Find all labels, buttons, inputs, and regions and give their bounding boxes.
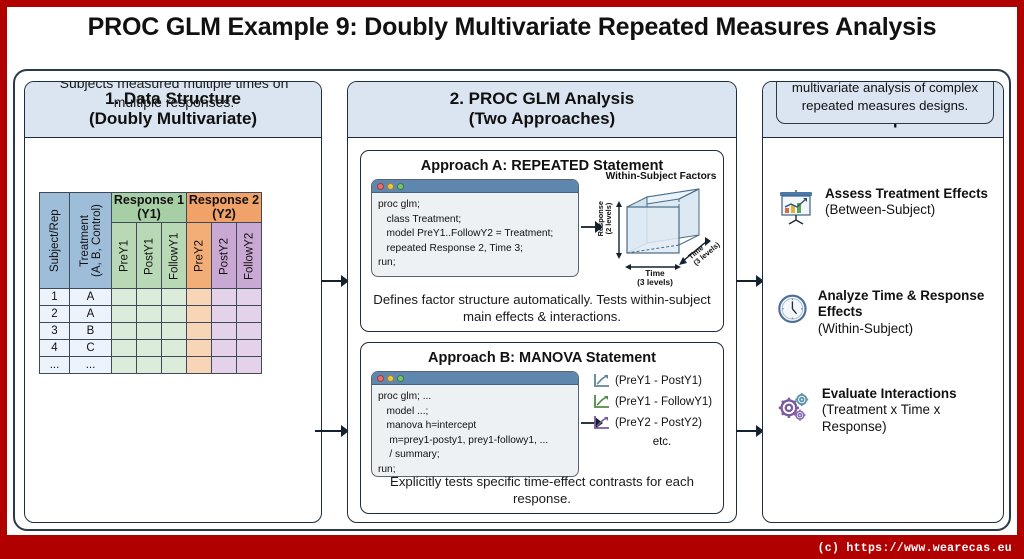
col-header-followy2: FollowY2	[237, 223, 262, 289]
col-header-prey2: PreY2	[187, 223, 212, 289]
approach-b-box: Approach B: MANOVA Statement proc glm; .…	[360, 342, 724, 514]
group-header-response1: Response 1(Y1)	[112, 193, 187, 223]
cell-posty2	[212, 323, 237, 340]
cell-followy1	[162, 323, 187, 340]
contrast-label: (PreY2 - PostY2)	[615, 417, 702, 429]
arrow-data-to-manova	[315, 423, 349, 439]
col-header-treatment: Treatment(A, B, Control)	[70, 193, 112, 289]
cell-treatment: A	[70, 306, 112, 323]
cell-prey2	[187, 323, 212, 340]
clock-icon	[776, 288, 809, 328]
table-row: ... ...	[40, 357, 262, 374]
col-header-followy1: FollowY1	[162, 223, 187, 289]
panel2-header: 2. PROC GLM Analysis (Two Approaches)	[348, 82, 736, 138]
cube-caption: Within-Subject Factors	[599, 171, 723, 182]
cell-subject: 1	[40, 289, 70, 306]
cell-posty1	[137, 340, 162, 357]
cell-followy2	[237, 289, 262, 306]
goal-subtitle: (Treatment x Time x Response)	[822, 402, 941, 433]
code-window-approach-b[interactable]: proc glm; ... model ...; manova h=interc…	[371, 371, 579, 477]
col-header-posty2: PostY2	[212, 223, 237, 289]
gears-icon	[776, 386, 813, 426]
diagram-canvas: PROC GLM Example 9: Doubly Multivariate …	[7, 7, 1017, 535]
goal-text: Assess Treatment Effects (Between-Subjec…	[825, 186, 988, 219]
cell-treatment: ...	[70, 357, 112, 374]
approach-b-note: Explicitly tests specific time-effect co…	[367, 473, 717, 507]
panel1-note: Subjects measured multiple times on mult…	[35, 81, 313, 112]
watermark: (c) https://www.wearecas.eu	[818, 542, 1012, 555]
col-header-prey1: PreY1	[112, 223, 137, 289]
contrast-list: (PreY1 - PostY1) (PreY1 - FollowY1)	[593, 373, 723, 448]
cell-subject: 2	[40, 306, 70, 323]
approach-a-box: Approach A: REPEATED Statement proc glm;…	[360, 150, 724, 332]
data-structure-table: Subject/Rep Treatment(A, B, Control) Res…	[39, 192, 262, 374]
minimize-icon[interactable]	[387, 183, 394, 190]
goal-title: Analyze Time & Response Effects	[818, 288, 994, 321]
cell-followy1	[162, 306, 187, 323]
goal-text: Evaluate Interactions (Treatment x Time …	[822, 386, 994, 435]
page-title: PROC GLM Example 9: Doubly Multivariate …	[7, 13, 1017, 42]
goal-analyze-time-response-effects: Analyze Time & Response Effects (Within-…	[776, 288, 994, 337]
goal-text: Analyze Time & Response Effects (Within-…	[818, 288, 994, 337]
table-group-header-row: Subject/Rep Treatment(A, B, Control) Res…	[40, 193, 262, 223]
cell-subject: 3	[40, 323, 70, 340]
contrast-etc: etc.	[593, 436, 723, 448]
summary-box: Provides comprehensive multivariate anal…	[776, 81, 994, 124]
approach-a-note: Defines factor structure automatically. …	[367, 291, 717, 325]
table-row: 3 B	[40, 323, 262, 340]
contrast-item: (PreY1 - FollowY1)	[593, 394, 723, 409]
group-header-response2: Response 2(Y2)	[187, 193, 262, 223]
presentation-chart-icon	[776, 186, 816, 226]
arrow-analysis-to-goals-bottom	[736, 423, 764, 439]
cube-axis-time-x-label: Time(3 levels)	[627, 269, 683, 287]
cell-followy1	[162, 289, 187, 306]
cell-prey1	[112, 340, 137, 357]
cell-prey2	[187, 306, 212, 323]
arrow-analysis-to-goals-top	[736, 273, 764, 289]
cell-posty2	[212, 340, 237, 357]
goal-title: Assess Treatment Effects	[825, 186, 988, 202]
cell-posty1	[137, 357, 162, 374]
col-header-subject: Subject/Rep	[40, 193, 70, 289]
code-window-approach-a[interactable]: proc glm; class Treatment; model PreY1..…	[371, 179, 579, 277]
goal-title: Evaluate Interactions	[822, 386, 994, 402]
line-chart-icon	[593, 415, 610, 430]
panel-proc-glm-analysis: 2. PROC GLM Analysis (Two Approaches) Ap…	[347, 81, 737, 523]
approach-b-title: Approach B: MANOVA Statement	[361, 343, 723, 366]
goal-evaluate-interactions: Evaluate Interactions (Treatment x Time …	[776, 386, 994, 435]
table-row: 4 C	[40, 340, 262, 357]
minimize-icon[interactable]	[387, 375, 394, 382]
panel-data-structure: 1. Data Structure (Doubly Multivariate) …	[24, 81, 322, 523]
cube-axis-response-label: Response(2 levels)	[597, 201, 613, 236]
cell-posty2	[212, 306, 237, 323]
cell-treatment: B	[70, 323, 112, 340]
close-icon[interactable]	[377, 375, 384, 382]
cell-treatment: C	[70, 340, 112, 357]
cell-followy1	[162, 340, 187, 357]
cell-followy2	[237, 323, 262, 340]
maximize-icon[interactable]	[397, 183, 404, 190]
panels-frame: 1. Data Structure (Doubly Multivariate) …	[13, 69, 1011, 531]
panel2-header-line1: 2. PROC GLM Analysis	[352, 89, 732, 109]
cell-treatment: A	[70, 289, 112, 306]
cell-followy1	[162, 357, 187, 374]
cell-posty1	[137, 289, 162, 306]
cell-followy2	[237, 357, 262, 374]
data-table-wrap: Subject/Rep Treatment(A, B, Control) Res…	[39, 192, 262, 374]
cell-prey1	[112, 289, 137, 306]
arrow-data-to-analysis	[321, 273, 349, 289]
contrast-label: (PreY1 - FollowY1)	[615, 396, 712, 408]
cell-prey2	[187, 289, 212, 306]
cell-posty1	[137, 323, 162, 340]
cell-followy2	[237, 306, 262, 323]
code-window-titlebar	[372, 372, 578, 385]
contrast-item: (PreY2 - PostY2)	[593, 415, 723, 430]
cell-prey2	[187, 340, 212, 357]
panel-analytical-goals: 3. Analytical Goals & Output	[762, 81, 1004, 523]
code-text-approach-b: proc glm; ... model ...; manova h=interc…	[372, 385, 578, 477]
diagram-root: PROC GLM Example 9: Doubly Multivariate …	[0, 0, 1024, 559]
cell-posty2	[212, 357, 237, 374]
table-row: 2 A	[40, 306, 262, 323]
cell-posty1	[137, 306, 162, 323]
panel2-header-line2: (Two Approaches)	[352, 109, 732, 129]
cell-prey2	[187, 357, 212, 374]
col-header-posty1: PostY1	[137, 223, 162, 289]
goal-assess-treatment-effects: Assess Treatment Effects (Between-Subjec…	[776, 186, 994, 226]
cell-posty2	[212, 289, 237, 306]
cell-subject: ...	[40, 357, 70, 374]
goal-subtitle: (Between-Subject)	[825, 202, 935, 217]
cell-subject: 4	[40, 340, 70, 357]
line-chart-icon	[593, 394, 610, 409]
code-text-approach-a: proc glm; class Treatment; model PreY1..…	[372, 193, 578, 275]
contrast-label: (PreY1 - PostY1)	[615, 375, 702, 387]
within-subject-cube-area: Within-Subject Factors	[599, 171, 723, 281]
goal-subtitle: (Within-Subject)	[818, 321, 913, 336]
table-row: 1 A	[40, 289, 262, 306]
cube-diagram-icon	[599, 183, 723, 281]
close-icon[interactable]	[377, 183, 384, 190]
contrast-item: (PreY1 - PostY1)	[593, 373, 723, 388]
maximize-icon[interactable]	[397, 375, 404, 382]
cell-followy2	[237, 340, 262, 357]
cell-prey1	[112, 306, 137, 323]
cell-prey1	[112, 357, 137, 374]
cell-prey1	[112, 323, 137, 340]
code-window-titlebar	[372, 180, 578, 193]
line-chart-icon	[593, 373, 610, 388]
